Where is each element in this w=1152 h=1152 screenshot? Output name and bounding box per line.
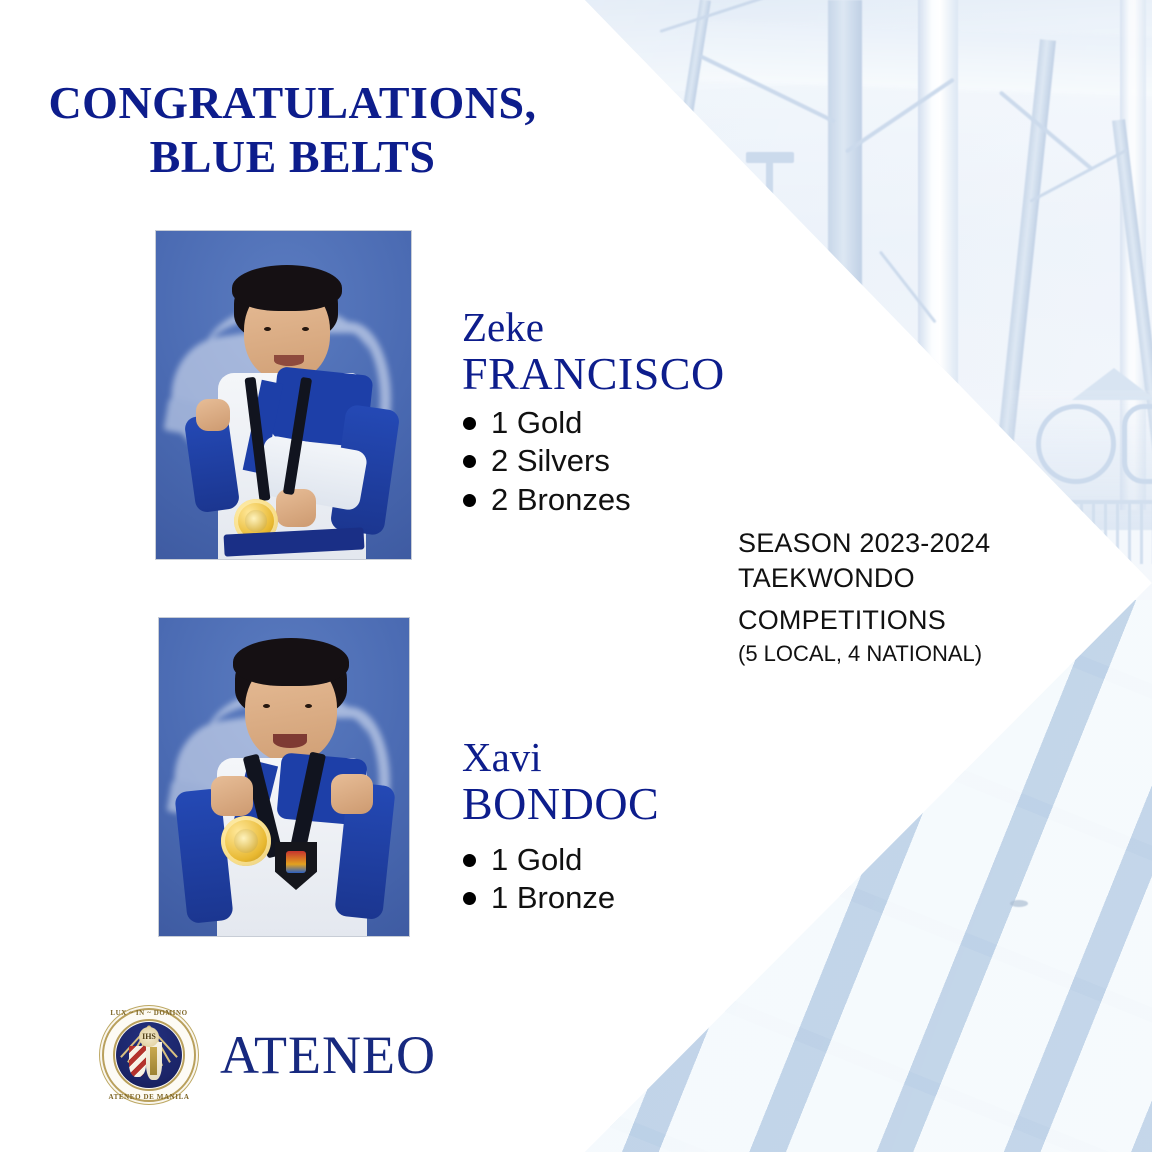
xavi-bondoc-photo <box>158 617 410 937</box>
mouth-icon <box>273 734 307 748</box>
seal-top-text: LUX ~ IN ~ DOMINO <box>100 1009 198 1017</box>
athlete-figure <box>156 231 411 559</box>
medal-label: 2 Silvers <box>491 442 610 480</box>
ateneo-seal-icon: IHS LUX ~ IN ~ DOMINO ATENEO DE MANILA <box>100 1006 198 1104</box>
season-line-2: TAEKWONDO <box>738 561 1068 596</box>
fist-icon <box>196 399 230 431</box>
season-line-3: COMPETITIONS <box>738 603 1068 638</box>
list-item: 1 Bronze <box>455 879 615 917</box>
athlete-first-name: Zeke <box>462 305 725 349</box>
medal-list-zeke-francisco: 1 Gold 2 Silvers 2 Bronzes <box>455 404 631 519</box>
athlete-last-name: BONDOC <box>462 779 659 829</box>
athlete-figure <box>159 618 409 936</box>
bullet-icon <box>463 494 476 507</box>
seal-bottom-text: ATENEO DE MANILA <box>100 1093 198 1101</box>
bullet-icon <box>463 892 476 905</box>
eye-icon <box>263 704 270 708</box>
tree-trunk-icon <box>828 0 862 600</box>
athlete-first-name: Xavi <box>462 735 659 779</box>
hair-front-icon <box>232 265 342 311</box>
eye-icon <box>302 327 309 331</box>
poster-canvas: CONGRATULATIONS, BLUE BELTS <box>0 0 1152 1152</box>
medal-label: 1 Gold <box>491 404 582 442</box>
athlete-last-name: FRANCISCO <box>462 349 725 399</box>
hair-front-icon <box>233 638 349 686</box>
fist-icon <box>211 776 253 816</box>
bullet-icon <box>463 455 476 468</box>
pavement-speck <box>640 930 651 936</box>
ihs-monogram: IHS <box>139 1027 159 1047</box>
season-info-block: SEASON 2023-2024 TAEKWONDO COMPETITIONS … <box>738 526 1068 668</box>
lamp-post-icon <box>766 160 773 280</box>
medal-label: 2 Bronzes <box>491 481 631 519</box>
zeke-francisco-photo <box>155 230 412 560</box>
medal-list-xavi-bondoc: 1 Gold 1 Bronze <box>455 841 615 918</box>
ateneo-wordmark: ATENEO <box>220 1024 436 1086</box>
list-item: 1 Gold <box>455 841 615 879</box>
page-title: CONGRATULATIONS, BLUE BELTS <box>0 76 585 185</box>
tree-trunk-icon <box>986 39 1056 558</box>
athlete-name-xavi-bondoc: Xavi BONDOC <box>462 735 659 829</box>
medal-label: 1 Bronze <box>491 879 615 917</box>
season-line-1: SEASON 2023-2024 <box>738 526 1068 561</box>
eye-icon <box>264 327 271 331</box>
eye-icon <box>305 704 312 708</box>
medal-label: 1 Gold <box>491 841 582 879</box>
gold-medal-icon <box>221 816 271 866</box>
mouth-icon <box>274 355 304 366</box>
list-item: 2 Bronzes <box>455 481 631 519</box>
list-item: 2 Silvers <box>455 442 631 480</box>
bullet-icon <box>463 417 476 430</box>
pavement-speck <box>868 780 881 786</box>
list-item: 1 Gold <box>455 404 631 442</box>
pavement-speck <box>760 710 776 717</box>
bullet-icon <box>463 854 476 867</box>
pavement-speck <box>1010 900 1028 907</box>
fist-icon <box>276 489 316 527</box>
footer-branding: IHS LUX ~ IN ~ DOMINO ATENEO DE MANILA A… <box>100 1006 436 1104</box>
season-line-4: (5 LOCAL, 4 NATIONAL) <box>738 640 1068 669</box>
fist-icon <box>331 774 373 814</box>
athlete-name-zeke-francisco: Zeke FRANCISCO <box>462 305 725 399</box>
